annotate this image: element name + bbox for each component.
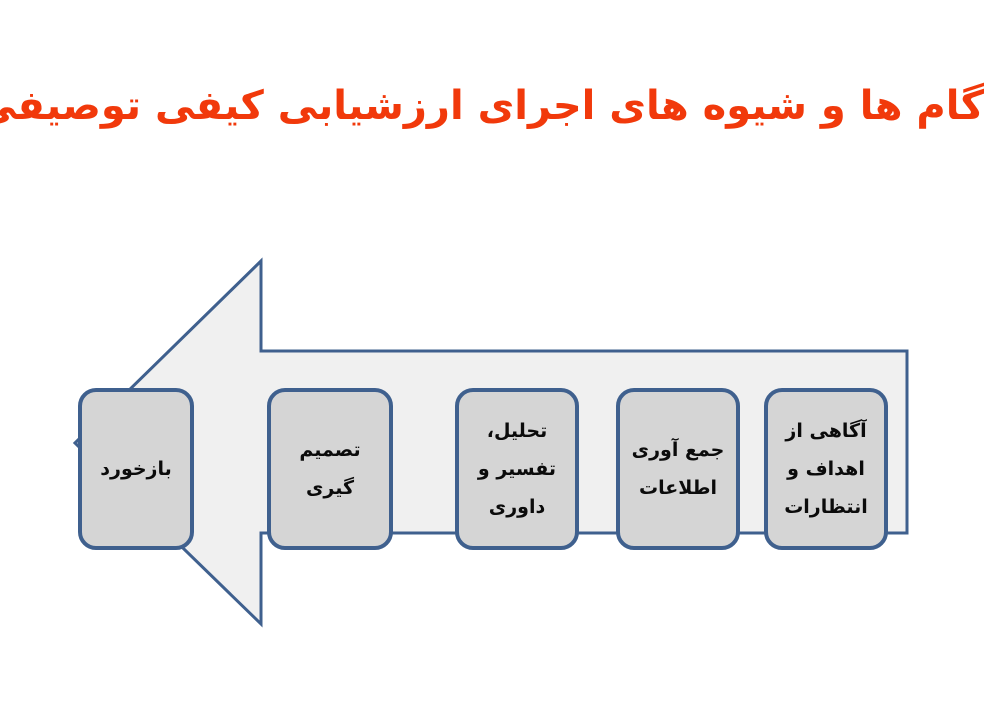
process-step-decision-making[interactable]: تصمیم گیری — [267, 388, 393, 550]
process-step-awareness-of-goals[interactable]: آگاهی از اهداف و انتظارات — [764, 388, 888, 550]
process-arrow-svg — [0, 0, 984, 704]
process-step-label: داوری — [489, 488, 545, 526]
process-step-label: گیری — [306, 469, 354, 507]
process-step-label: جمع آوری — [632, 431, 725, 469]
process-step-label: انتظارات — [784, 488, 868, 526]
process-step-label: اهداف و — [787, 450, 865, 488]
process-step-label: اطلاعات — [639, 469, 717, 507]
process-step-label: آگاهی از — [785, 412, 866, 450]
slide-canvas: گام ها و شیوه های اجرای ارزشیابی کیفی تو… — [0, 0, 984, 704]
process-step-label: بازخورد — [100, 450, 172, 488]
process-step-label: تصمیم — [299, 431, 360, 469]
process-flow-diagram: بازخورد تصمیم گیری تحلیل، تفسیر و داوری … — [0, 0, 984, 704]
process-step-analysis-interpretation-judgement[interactable]: تحلیل، تفسیر و داوری — [455, 388, 579, 550]
process-step-label: تفسیر و — [478, 450, 556, 488]
process-step-data-gathering[interactable]: جمع آوری اطلاعات — [616, 388, 740, 550]
process-step-label: تحلیل، — [487, 412, 548, 450]
process-step-feedback[interactable]: بازخورد — [78, 388, 194, 550]
